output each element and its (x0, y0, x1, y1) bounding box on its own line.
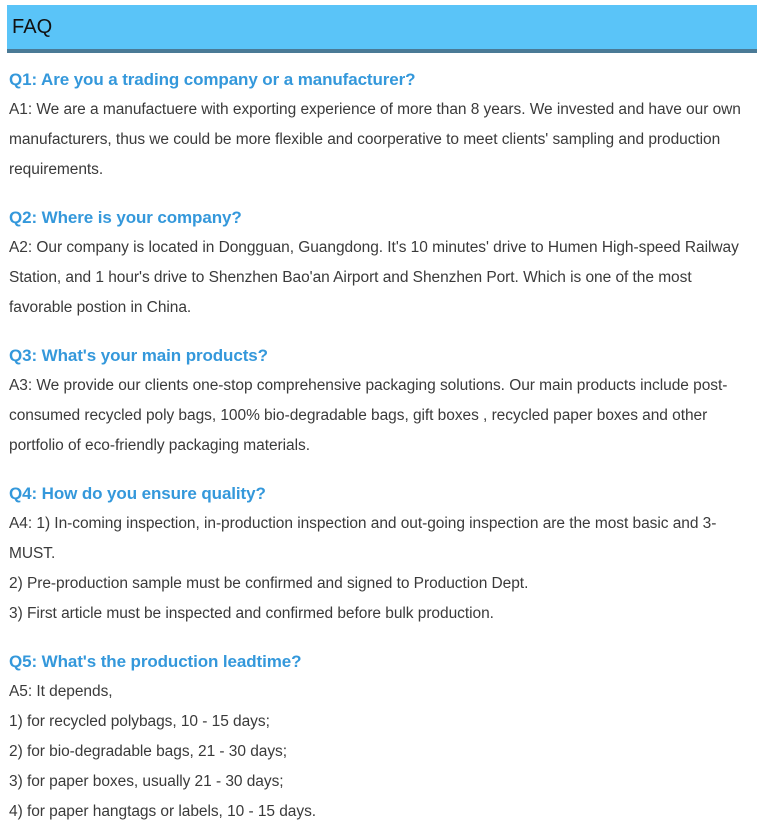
faq-answer-line: A1: We are a manufactuere with exporting… (9, 95, 753, 185)
faq-question-q5: Q5: What's the production leadtime? (9, 650, 753, 674)
faq-answer-line: 4) for paper hangtags or labels, 10 - 15… (9, 797, 753, 827)
faq-page: FAQ Q1: Are you a trading company or a m… (0, 0, 765, 748)
faq-answer-line: 2) Pre-production sample must be confirm… (9, 569, 753, 599)
faq-answer-line: A2: Our company is located in Dongguan, … (9, 233, 753, 323)
faq-answer-line: 3) for paper boxes, usually 21 - 30 days… (9, 767, 753, 797)
faq-answer-q3: A3: We provide our clients one-stop comp… (9, 371, 753, 461)
faq-item-q5: Q5: What's the production leadtime? A5: … (9, 650, 753, 827)
faq-question-q3: Q3: What's your main products? (9, 344, 753, 368)
faq-item-q1: Q1: Are you a trading company or a manuf… (9, 68, 753, 185)
faq-question-q1: Q1: Are you a trading company or a manuf… (9, 68, 753, 92)
faq-answer-line: A5: It depends, (9, 677, 753, 707)
faq-question-q2: Q2: Where is your company? (9, 206, 753, 230)
faq-item-q2: Q2: Where is your company? A2: Our compa… (9, 206, 753, 323)
faq-answer-q5: A5: It depends, 1) for recycled polybags… (9, 677, 753, 827)
faq-answer-line: 2) for bio-degradable bags, 21 - 30 days… (9, 737, 753, 767)
faq-banner-title: FAQ (7, 17, 52, 37)
faq-item-q4: Q4: How do you ensure quality? A4: 1) In… (9, 482, 753, 629)
faq-answer-line: 3) First article must be inspected and c… (9, 599, 753, 629)
faq-list: Q1: Are you a trading company or a manuf… (9, 68, 753, 827)
faq-banner: FAQ (7, 5, 757, 53)
faq-answer-line: 1) for recycled polybags, 10 - 15 days; (9, 707, 753, 737)
faq-question-q4: Q4: How do you ensure quality? (9, 482, 753, 506)
faq-answer-q4: A4: 1) In-coming inspection, in-producti… (9, 509, 753, 629)
faq-answer-q1: A1: We are a manufactuere with exporting… (9, 95, 753, 185)
faq-answer-line: A4: 1) In-coming inspection, in-producti… (9, 509, 753, 569)
faq-answer-q2: A2: Our company is located in Dongguan, … (9, 233, 753, 323)
faq-answer-line: A3: We provide our clients one-stop comp… (9, 371, 753, 461)
faq-item-q3: Q3: What's your main products? A3: We pr… (9, 344, 753, 461)
